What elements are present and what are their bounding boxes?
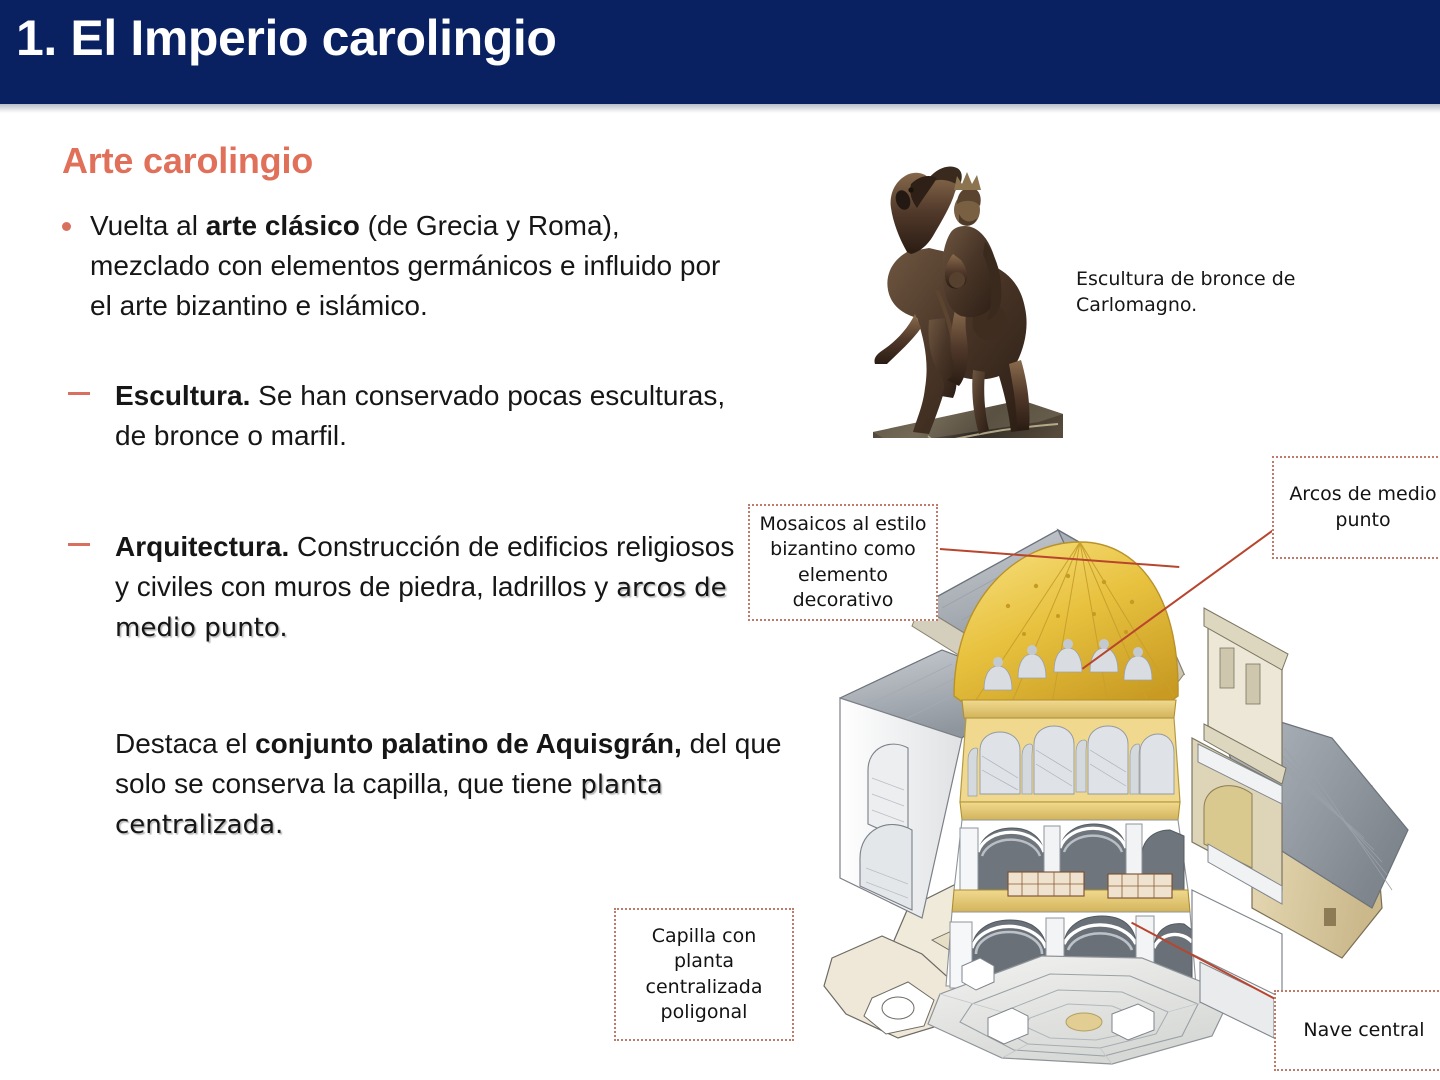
- bullet-item-arte-clasico: Vuelta al arte clásico (de Grecia y Roma…: [90, 206, 730, 325]
- bullet-item-arquitectura: Arquitectura. Construcción de edificios …: [115, 527, 755, 647]
- callout-arcos-medio-punto: Arcos de medio punto: [1272, 456, 1440, 559]
- p4-before: Destaca el: [115, 728, 255, 759]
- b1-bold: arte clásico: [206, 210, 360, 241]
- bullet-dot-marker: [62, 222, 71, 231]
- b3-bold: Arquitectura.: [115, 531, 289, 562]
- callout-capilla-planta-centralizada: Capilla con planta centralizada poligona…: [614, 908, 794, 1041]
- callout-mosaicos-bizantinos: Mosaicos al estilo bizantino como elemen…: [748, 504, 938, 621]
- figure-caption-statue: Escultura de bronce de Carlomagno.: [1076, 266, 1346, 318]
- header-shadow: [0, 104, 1440, 113]
- p4-bold: conjunto palatino de Aquisgrán,: [255, 728, 682, 759]
- figure-charlemagne-statue: [833, 114, 1063, 476]
- page-title: 1. El Imperio carolingio: [16, 12, 1016, 65]
- section-subtitle: Arte carolingio: [62, 140, 313, 182]
- bullet-item-escultura: Escultura. Se han conservado pocas escul…: [115, 376, 735, 456]
- paragraph-aquisgran: Destaca el conjunto palatino de Aquisgrá…: [115, 724, 795, 844]
- callout-nave-central: Nave central: [1274, 990, 1440, 1071]
- b1-before: Vuelta al: [90, 210, 206, 241]
- chapel-upper-gallery: [960, 718, 1180, 820]
- bullet-dash-marker-arquitectura: [68, 543, 90, 546]
- b2-bold: Escultura.: [115, 380, 250, 411]
- bullet-dash-marker-escultura: [68, 392, 90, 395]
